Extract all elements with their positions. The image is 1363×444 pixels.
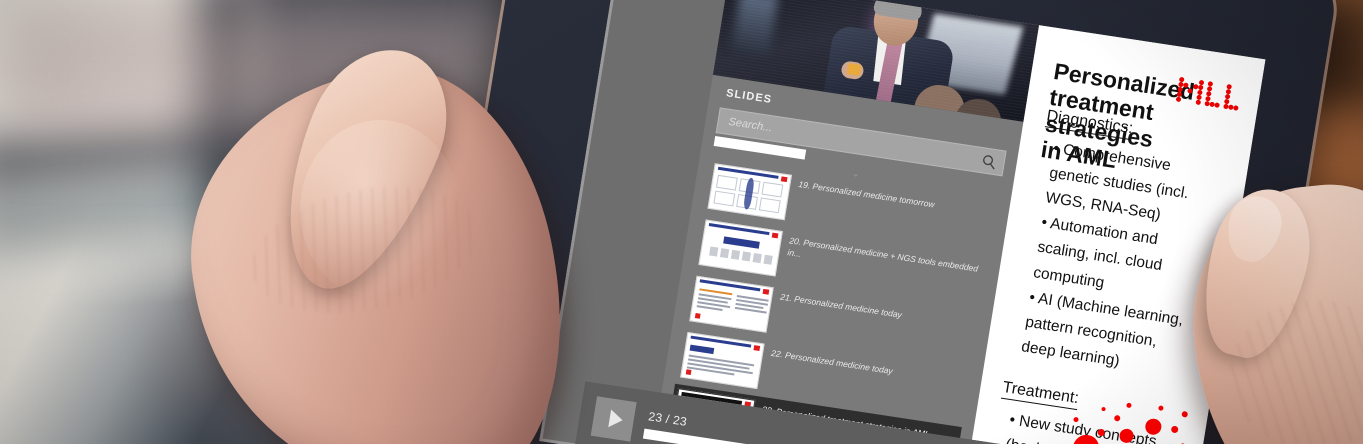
play-button[interactable] <box>591 396 637 441</box>
slide-counter: 23 / 23 <box>647 409 688 429</box>
tablet-screen: SLIDES ⌄ 19. Personalized medicine tomor… <box>539 0 1265 444</box>
slide-thumbnail-image <box>707 163 791 220</box>
mll-logo-icon <box>1175 77 1243 116</box>
slide-thumbnail-image <box>698 219 782 276</box>
slide-thumbnail-image <box>680 332 764 389</box>
search-icon <box>980 153 997 170</box>
slide-thumbnail-image <box>689 276 773 333</box>
slides-sidebar: SLIDES ⌄ 19. Personalized medicine tomor… <box>661 75 1023 440</box>
decorative-dots-icon <box>1050 379 1214 444</box>
scene: SLIDES ⌄ 19. Personalized medicine tomor… <box>0 0 1363 444</box>
play-icon <box>608 409 624 429</box>
